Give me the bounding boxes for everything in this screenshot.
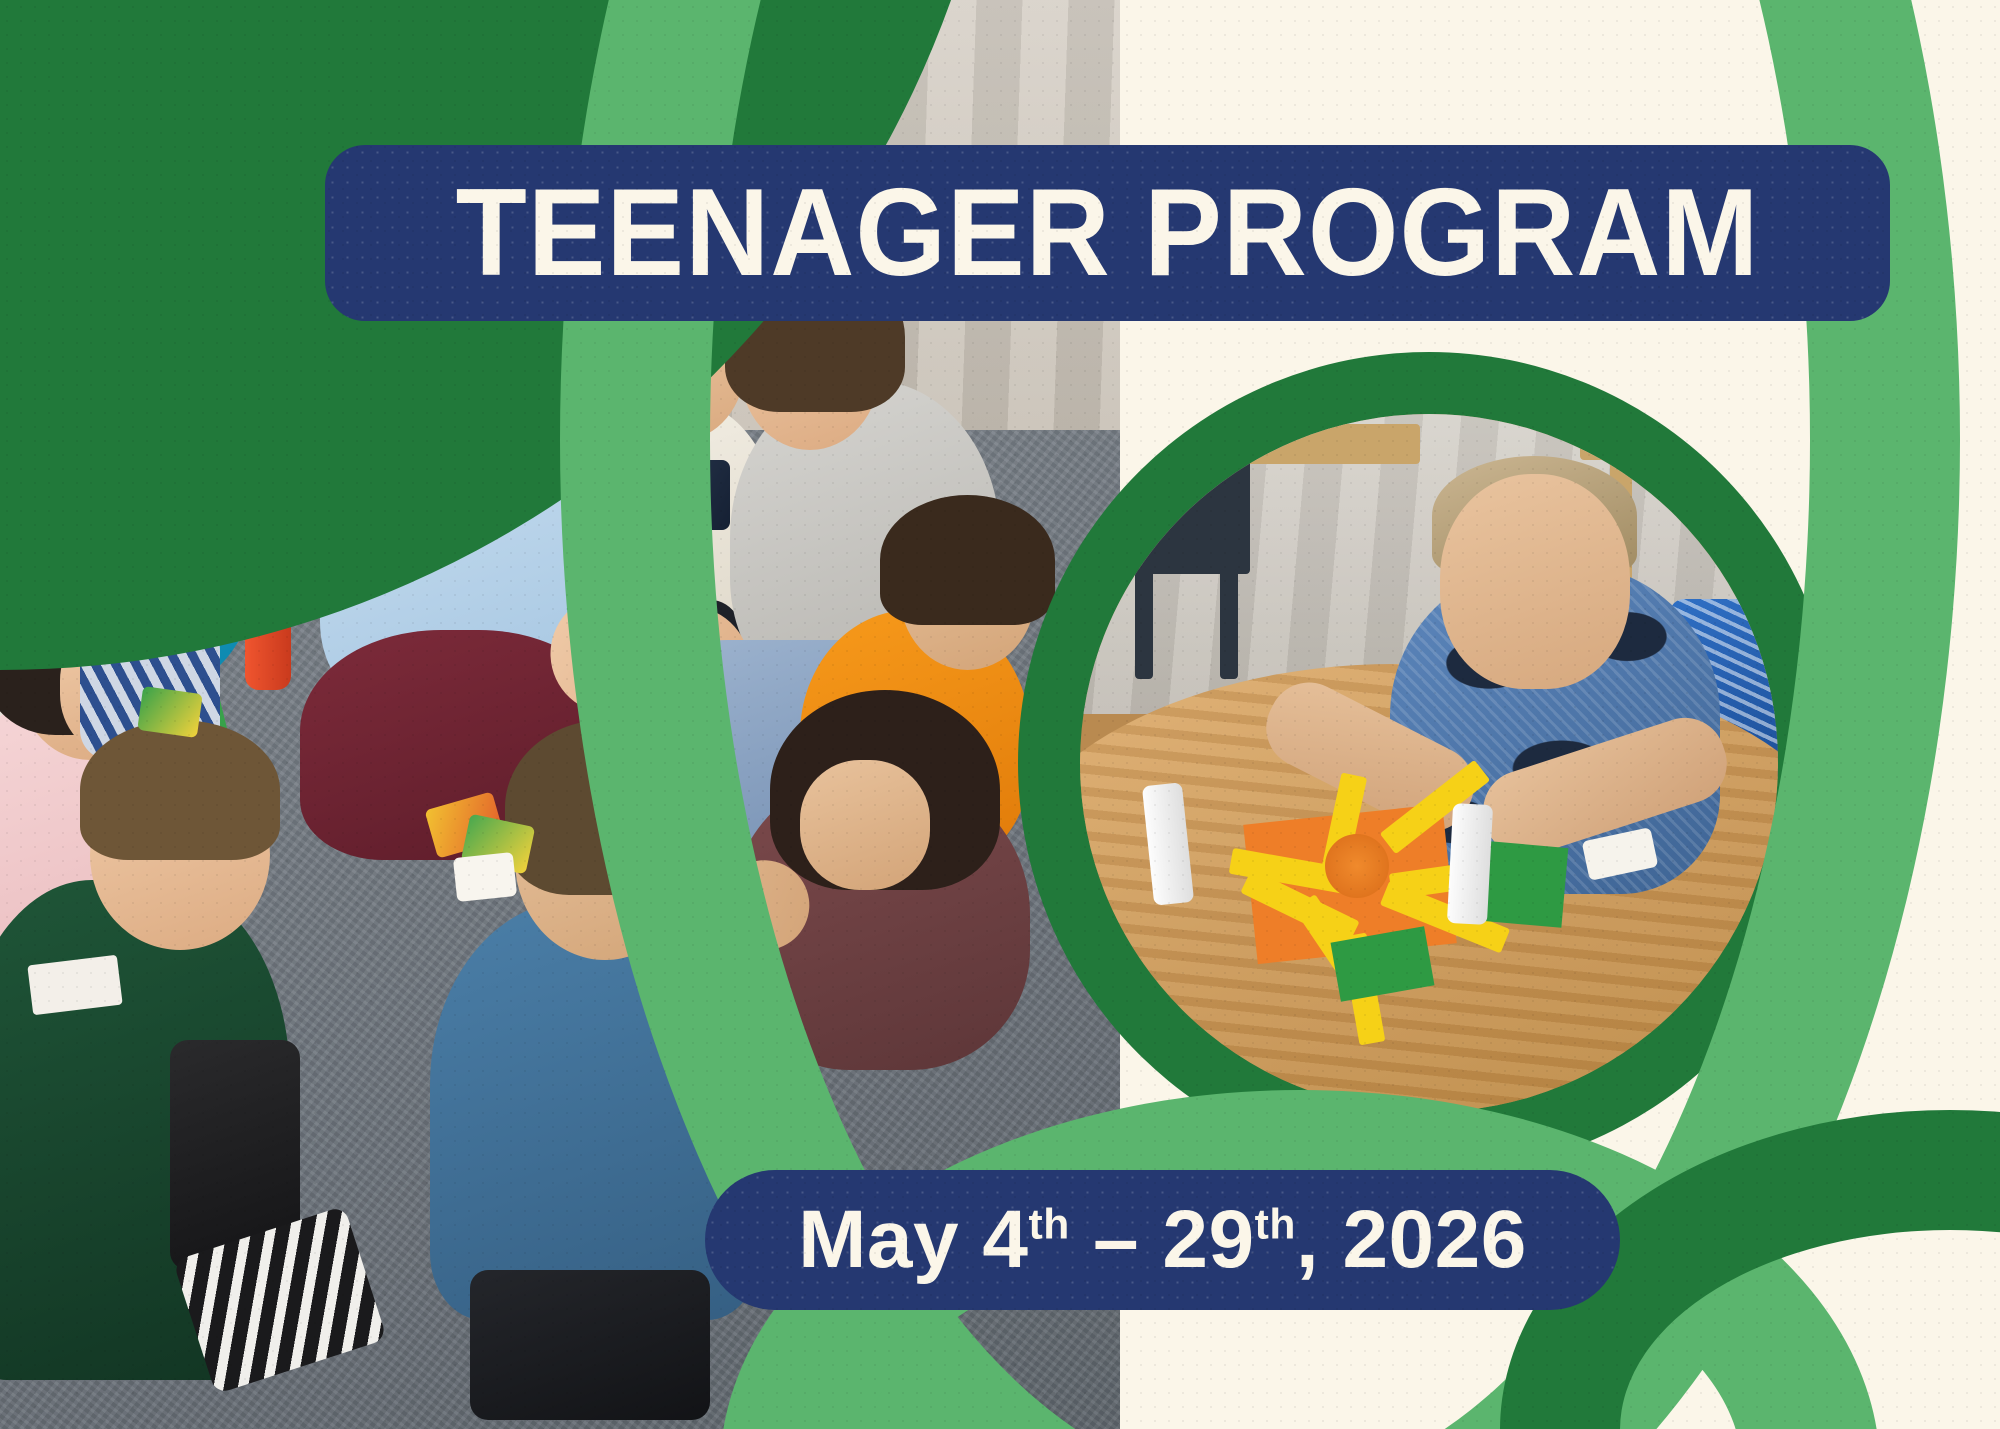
date-middle: – 29 bbox=[1070, 1194, 1255, 1285]
scattered-card bbox=[137, 686, 203, 738]
program-dates: May 4th – 29th, 2026 bbox=[798, 1199, 1527, 1281]
date-suffix: , 2026 bbox=[1296, 1194, 1527, 1285]
title-banner: TEENAGER PROGRAM bbox=[325, 145, 1890, 321]
date-ordinal-second: th bbox=[1255, 1201, 1296, 1249]
date-ordinal-first: th bbox=[1029, 1201, 1070, 1249]
date-banner: May 4th – 29th, 2026 bbox=[705, 1170, 1620, 1310]
scattered-card bbox=[453, 852, 517, 902]
date-prefix: May 4 bbox=[798, 1194, 1028, 1285]
teen-blue-sweater-pants bbox=[470, 1270, 710, 1420]
page-title: TEENAGER PROGRAM bbox=[456, 171, 1760, 295]
teen-green-sweater-hair bbox=[80, 720, 280, 860]
poster-canvas: TEENAGER PROGRAM May 4th – 29th, 2026 bbox=[0, 0, 2000, 1429]
